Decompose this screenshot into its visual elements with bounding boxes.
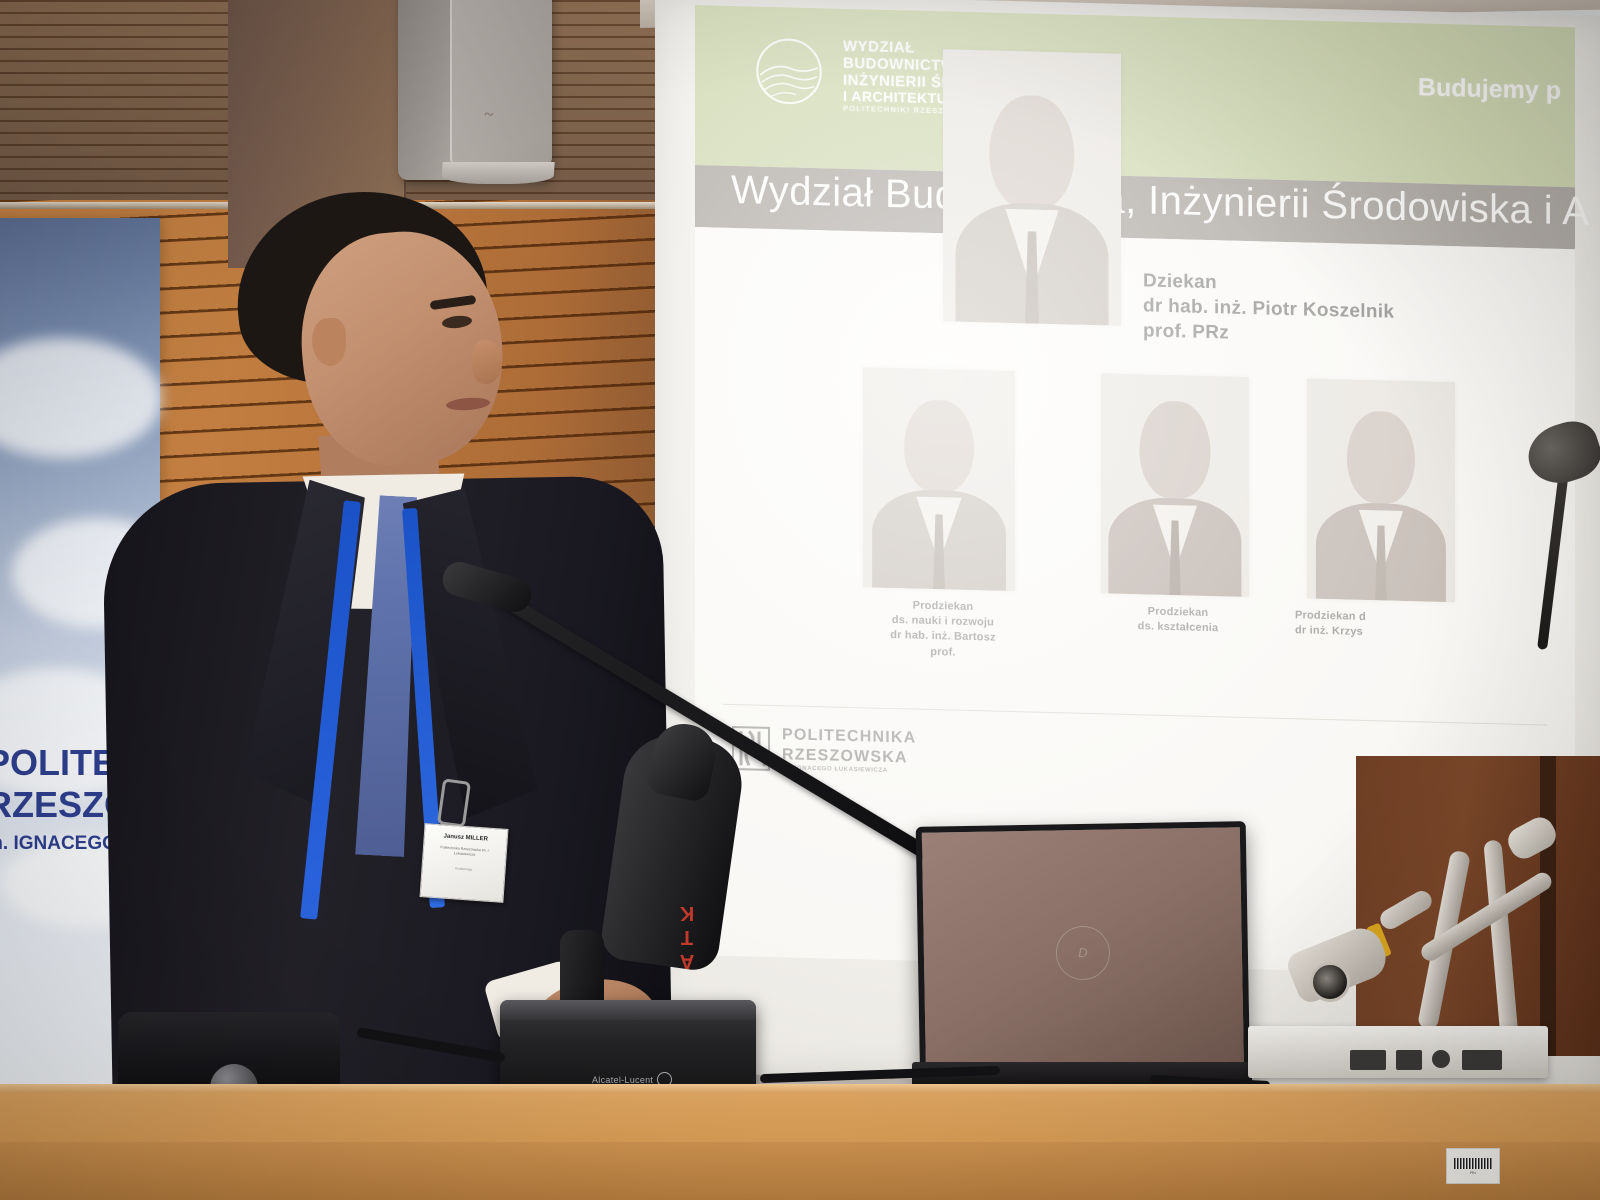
slide-slogan: Budujemy p	[1418, 73, 1561, 106]
inventory-sticker-label: PRz	[1470, 1171, 1477, 1175]
mic-base-brand-label: Alcatel-Lucent	[592, 1075, 653, 1085]
desk-front-panel	[0, 1142, 1600, 1200]
dell-laptop-lid[interactable]: D	[916, 821, 1251, 1095]
vice-dean-portrait-2	[1101, 373, 1249, 597]
podium-edge	[1540, 756, 1556, 1056]
dean-portrait	[943, 49, 1121, 326]
vice-dean-portrait-3	[1307, 379, 1455, 603]
io-port-usb[interactable]	[1462, 1050, 1502, 1070]
dell-logo-icon: D	[1055, 925, 1110, 980]
vice-dean-caption-3: Prodziekan d dr inż. Krzys	[1295, 608, 1477, 643]
badge-name: Janusz MILLER	[430, 833, 500, 846]
dean-caption: Dziekan dr hab. inż. Piotr Koszelnik pro…	[1143, 268, 1394, 350]
microphone-base-top	[500, 1000, 756, 1020]
desk-top-edge	[0, 1084, 1600, 1093]
io-port-hdmi[interactable]	[1396, 1050, 1422, 1070]
vice-dean-portrait-1	[863, 367, 1015, 591]
faculty-emblem-icon	[753, 34, 825, 108]
barcode-icon	[1454, 1158, 1492, 1169]
lecture-hall-photo: WYDZIAŁ BUDOWNICTWA INŻYNIERII ŚRODOWISK…	[0, 0, 1600, 1200]
politechnika-footer-text: POLITECHNIKA RZESZOWSKA im. IGNACEGO ŁUK…	[782, 725, 916, 776]
vice-dean-caption-1: Prodziekan ds. nauki i rozwoju dr hab. i…	[845, 597, 1041, 663]
doccam-lens-icon	[1310, 962, 1350, 1002]
badge-event: Konferencja	[429, 864, 499, 873]
inventory-sticker: PRz	[1446, 1148, 1500, 1184]
ceiling-speaker: ~	[398, 0, 550, 180]
badge-affiliation: Politechnika Rzeszowska im. I. Łukasiewi…	[430, 844, 501, 859]
io-port-audio[interactable]	[1432, 1050, 1450, 1068]
speaker-brand-icon: ~	[483, 104, 532, 129]
name-badge: Janusz MILLER Politechnika Rzeszowska im…	[420, 823, 509, 903]
ear	[312, 318, 346, 366]
speaker-front-panel	[450, 0, 552, 166]
io-port-vga[interactable]	[1350, 1050, 1386, 1070]
microphone-stand-mark: ATK	[676, 898, 698, 972]
nose	[472, 340, 502, 384]
vice-dean-caption-2: Prodziekan ds. kształcenia	[1087, 603, 1269, 638]
